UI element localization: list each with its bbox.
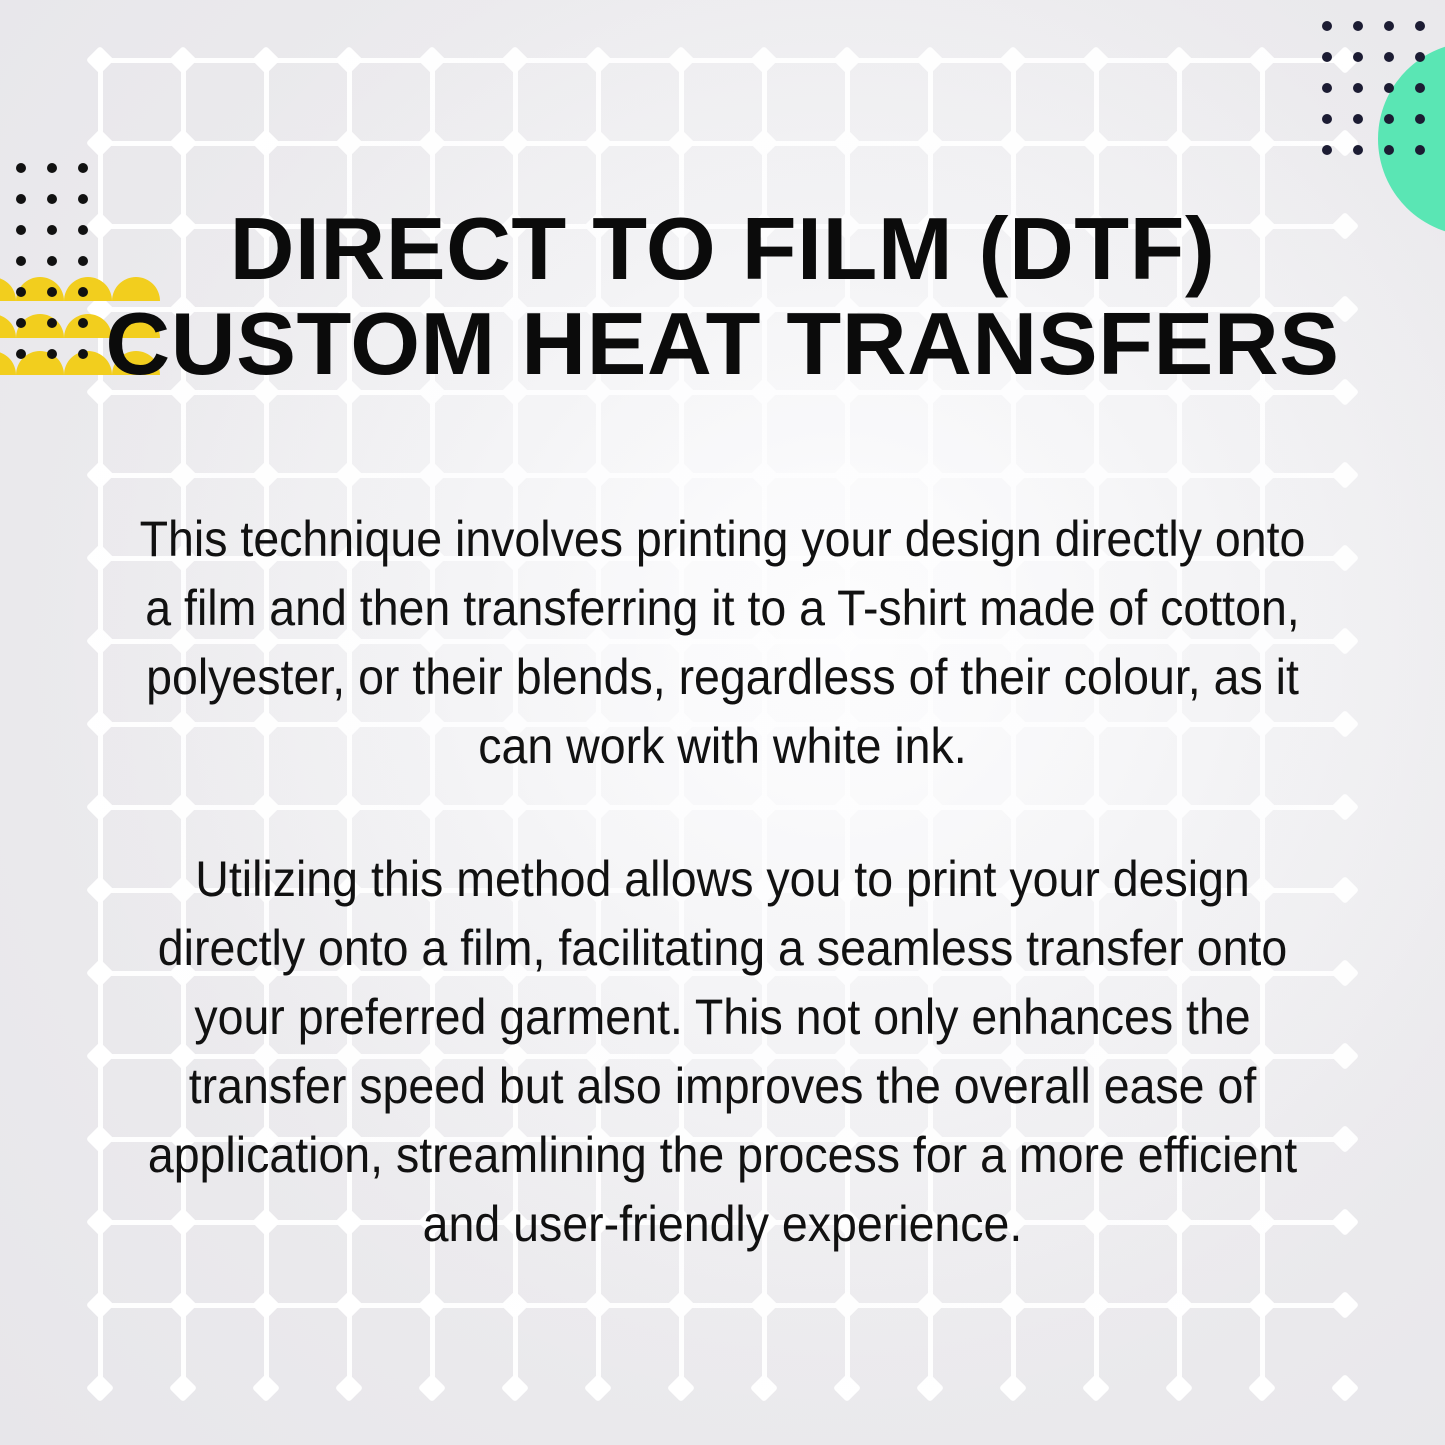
- poster-canvas: DIRECT TO FILM (DTF) CUSTOM HEAT TRANSFE…: [0, 0, 1445, 1445]
- body-paragraph-2: Utilizing this method allows you to prin…: [139, 845, 1306, 1259]
- title-line-2: CUSTOM HEAT TRANSFERS: [98, 296, 1348, 391]
- content-area: DIRECT TO FILM (DTF) CUSTOM HEAT TRANSFE…: [0, 0, 1445, 1445]
- title-line-1: DIRECT TO FILM (DTF): [98, 201, 1348, 296]
- page-title: DIRECT TO FILM (DTF) CUSTOM HEAT TRANSFE…: [98, 201, 1348, 391]
- body-paragraph-1: This technique involves printing your de…: [139, 505, 1306, 781]
